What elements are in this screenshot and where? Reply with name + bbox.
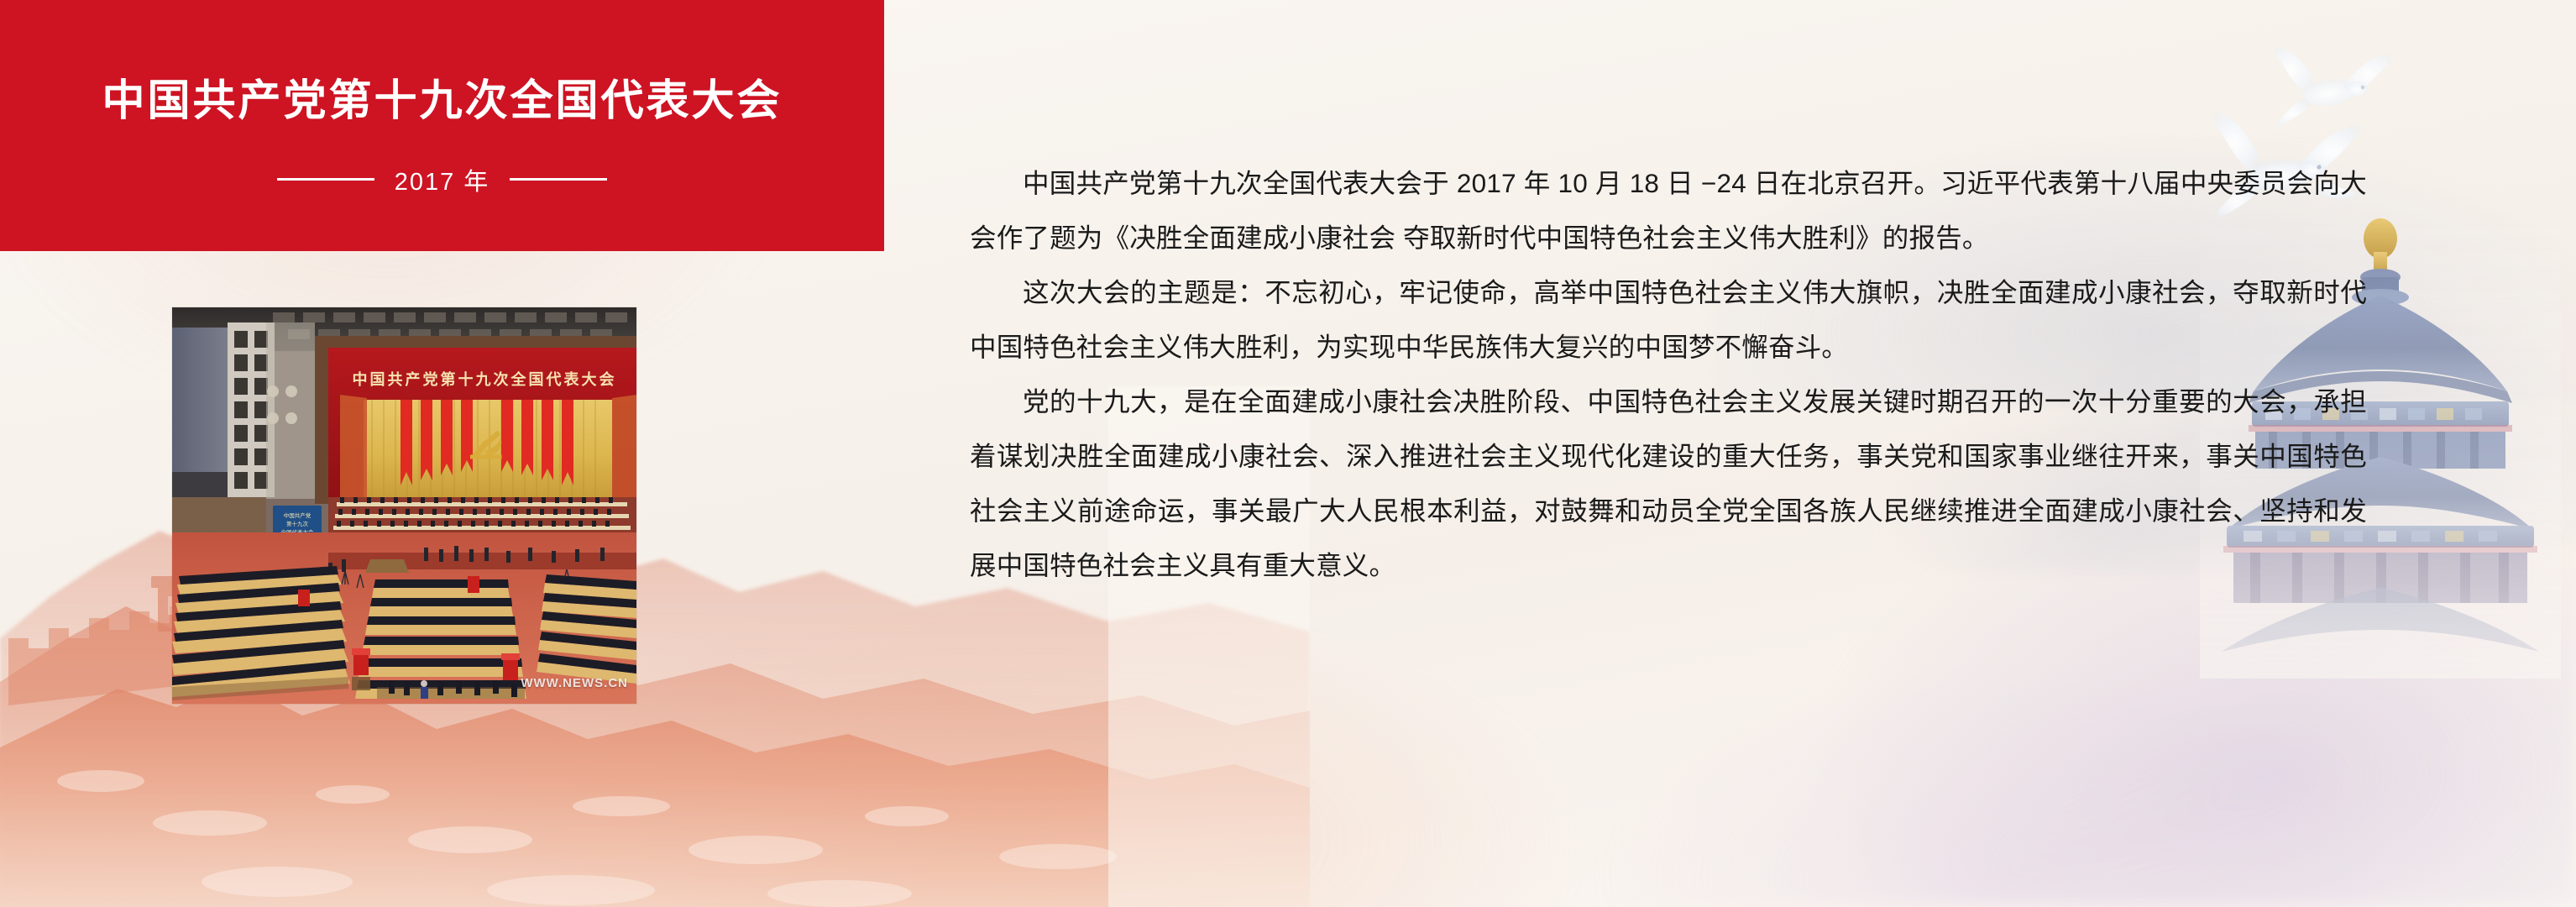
banner-year-row: 2017 年 [277,162,608,197]
svg-text:第十九次: 第十九次 [286,520,309,527]
article-body: 中国共产党第十九次全国代表大会于 2017 年 10 月 18 日 −24 日在… [970,156,2367,593]
rule-right-decoration [510,178,607,181]
article-paragraph: 这次大会的主题是：不忘初心，牢记使命，高举中国特色社会主义伟大旗帜，决胜全面建成… [970,265,2367,375]
banner-year-label: 2017 年 [395,162,490,197]
svg-text:中国共产党: 中国共产党 [284,511,312,519]
page-title: 中国共产党第十九次全国代表大会 [102,77,782,124]
poster-canvas: 中国共产党第十九次全国代表大会 2017 年 [0,0,2576,907]
photo-watermark: WWW.NEWS.CN [521,676,628,690]
rule-left-decoration [277,178,374,181]
article-paragraph: 党的十九大，是在全面建成小康社会决胜阶段、中国特色社会主义发展关键时期召开的一次… [970,375,2367,593]
article-paragraph: 中国共产党第十九次全国代表大会于 2017 年 10 月 18 日 −24 日在… [970,156,2367,265]
header-banner: 中国共产党第十九次全国代表大会 2017 年 [0,0,884,251]
congress-hall-photo: 中国共产党第十九次全国代表大会 [172,307,636,704]
svg-text:中国共产党第十九次全国代表大会: 中国共产党第十九次全国代表大会 [353,370,617,388]
